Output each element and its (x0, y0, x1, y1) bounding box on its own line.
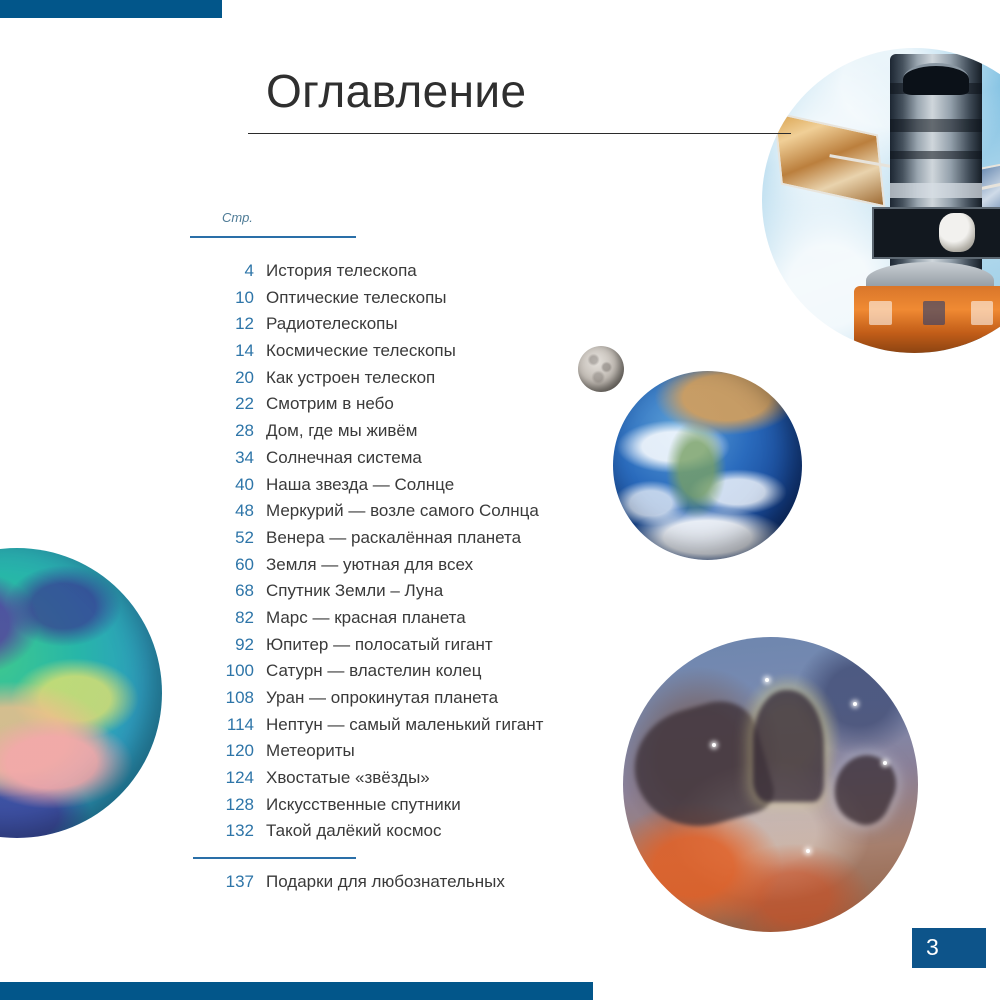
toc-entry[interactable]: 4История телескопа (190, 258, 610, 285)
base-stripe-2 (923, 301, 945, 325)
toc-entry[interactable]: 14Космические телескопы (190, 338, 610, 365)
toc-entry[interactable]: 60Земля — уютная для всех (190, 552, 610, 579)
toc-entry-label: Метеориты (266, 738, 355, 765)
nebula-photo (623, 637, 918, 932)
toc-entry[interactable]: 10Оптические телескопы (190, 285, 610, 312)
page-number-badge: 3 (912, 928, 986, 968)
toc-entry-page-number: 82 (190, 605, 254, 632)
toc-entry-page-number: 20 (190, 365, 254, 392)
toc-entry-label: Искусственные спутники (266, 792, 461, 819)
toc-entry[interactable]: 137Подарки для любознательных (190, 869, 610, 896)
toc-entry-page-number: 12 (190, 311, 254, 338)
toc-entry[interactable]: 132Такой далёкий космос (190, 818, 610, 845)
nebula-dust-pillar-right (824, 746, 905, 832)
telescope-band-3 (890, 151, 982, 160)
telescope-band-4 (890, 183, 982, 198)
toc-entry[interactable]: 52Венера — раскалённая планета (190, 525, 610, 552)
bottom-accent-bar (0, 982, 593, 1000)
toc-entry[interactable]: 128Искусственные спутники (190, 792, 610, 819)
base-stripe-1 (869, 301, 891, 325)
toc-entry-page-number: 114 (190, 712, 254, 739)
toc-entry-label: Оптические телескопы (266, 285, 447, 312)
toc-entry-page-number: 128 (190, 792, 254, 819)
column-header-divider (190, 236, 356, 238)
shuttle-payload-base (854, 286, 1000, 353)
toc-entry-page-number: 92 (190, 632, 254, 659)
toc-entry[interactable]: 92Юпитер — полосатый гигант (190, 632, 610, 659)
toc-entry-page-number: 52 (190, 525, 254, 552)
toc-entry-label: Уран — опрокинутая планета (266, 685, 498, 712)
astronaut-figure (939, 213, 976, 253)
telescope-band-2 (890, 119, 982, 132)
star-point (883, 761, 887, 765)
star-point (712, 743, 716, 747)
toc-entry-page-number: 10 (190, 285, 254, 312)
toc-entry-page-number: 28 (190, 418, 254, 445)
toc-entry[interactable]: 28Дом, где мы живём (190, 418, 610, 445)
venus-planet-photo (0, 548, 162, 838)
toc-entry-label: Спутник Земли – Луна (266, 578, 443, 605)
toc-entry[interactable]: 100Сатурн — властелин колец (190, 658, 610, 685)
toc-entry-label: Юпитер — полосатый гигант (266, 632, 493, 659)
earth-planet-photo (613, 371, 802, 560)
toc-entry-page-number: 14 (190, 338, 254, 365)
star-point (853, 702, 857, 706)
toc-entry-label: Как устроен телескоп (266, 365, 435, 392)
toc-entry-label: Наша звезда — Солнце (266, 472, 454, 499)
star-point (806, 849, 810, 853)
toc-entry[interactable]: 68Спутник Земли – Луна (190, 578, 610, 605)
toc-entry-page-number: 22 (190, 391, 254, 418)
toc-entry[interactable]: 120Метеориты (190, 738, 610, 765)
toc-entry-label: Радиотелескопы (266, 311, 398, 338)
toc-entry-page-number: 60 (190, 552, 254, 579)
toc-entry-page-number: 132 (190, 818, 254, 845)
title-underline (248, 133, 791, 134)
toc-entry-label: Сатурн — властелин колец (266, 658, 481, 685)
toc-entry-page-number: 120 (190, 738, 254, 765)
base-stripe-3 (971, 301, 993, 325)
toc-entry[interactable]: 22Смотрим в небо (190, 391, 610, 418)
toc-entry-page-number: 4 (190, 258, 254, 285)
toc-entry-label: Подарки для любознательных (266, 869, 505, 896)
toc-entry[interactable]: 82Марс — красная планета (190, 605, 610, 632)
toc-entry[interactable]: 12Радиотелескопы (190, 311, 610, 338)
toc-entry[interactable]: 124Хвостатые «звёзды» (190, 765, 610, 792)
toc-entry[interactable]: 34Солнечная система (190, 445, 610, 472)
toc-entry[interactable]: 20Как устроен телескоп (190, 365, 610, 392)
toc-entry[interactable]: 114Нептун — самый маленький гигант (190, 712, 610, 739)
toc-entry-page-number: 100 (190, 658, 254, 685)
toc-entry-page-number: 40 (190, 472, 254, 499)
nebula-dust-pillar-center (753, 690, 824, 802)
toc-entry-label: Нептун — самый маленький гигант (266, 712, 543, 739)
toc-entry-label: Земля — уютная для всех (266, 552, 473, 579)
table-of-contents-list: 4История телескопа10Оптические телескопы… (190, 258, 610, 845)
toc-entry-page-number: 34 (190, 445, 254, 472)
toc-entry-label: Меркурий — возле самого Солнца (266, 498, 539, 525)
toc-entry-label: Хвостатые «звёзды» (266, 765, 430, 792)
toc-entry-page-number: 48 (190, 498, 254, 525)
page-number-label: 3 (926, 936, 939, 959)
appendix-divider (193, 857, 356, 859)
toc-entry-page-number: 108 (190, 685, 254, 712)
toc-entry-label: Такой далёкий космос (266, 818, 442, 845)
instrument-bay (872, 207, 1000, 260)
toc-entry-label: Марс — красная планета (266, 605, 466, 632)
telescope-band-1 (890, 83, 982, 93)
page-column-header: Стр. (222, 211, 253, 224)
toc-entry[interactable]: 40Наша звезда — Солнце (190, 472, 610, 499)
solar-panel-left-icon (774, 112, 885, 208)
page-title: Оглавление (266, 68, 526, 114)
toc-entry-label: Смотрим в небо (266, 391, 394, 418)
toc-entry-label: Солнечная система (266, 445, 422, 472)
toc-entry[interactable]: 48Меркурий — возле самого Солнца (190, 498, 610, 525)
star-point (765, 678, 769, 682)
toc-entry-label: История телескопа (266, 258, 417, 285)
toc-entry-label: Дом, где мы живём (266, 418, 418, 445)
toc-entry-page-number: 68 (190, 578, 254, 605)
top-accent-bar (0, 0, 222, 18)
toc-entry-label: Венера — раскалённая планета (266, 525, 521, 552)
toc-entry[interactable]: 108Уран — опрокинутая планета (190, 685, 610, 712)
toc-entry-page-number: 124 (190, 765, 254, 792)
toc-entry-label: Космические телескопы (266, 338, 456, 365)
hubble-space-telescope-photo (762, 48, 1000, 353)
toc-entry-page-number: 137 (190, 869, 254, 896)
appendix-list: 137Подарки для любознательных (190, 869, 610, 896)
